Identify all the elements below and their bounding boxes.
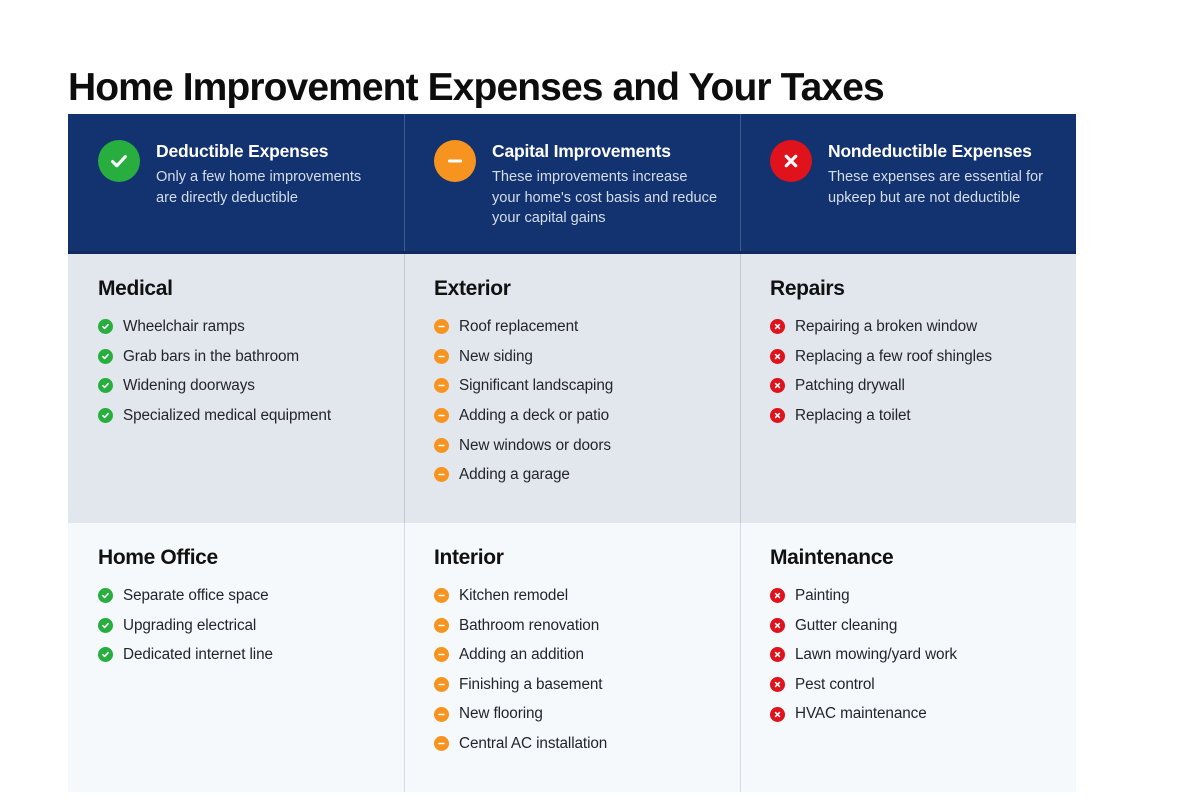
list-item: Adding an addition: [434, 645, 722, 664]
header-column-deductible: Deductible Expenses Only a few home impr…: [68, 114, 404, 251]
minus-circle-icon: [434, 408, 449, 423]
list-item-label: Widening doorways: [123, 376, 255, 395]
minus-circle-icon: [434, 349, 449, 364]
list-item-label: New flooring: [459, 704, 543, 723]
x-circle-icon: [770, 618, 785, 633]
x-circle-icon: [770, 349, 785, 364]
x-circle-icon: [770, 707, 785, 722]
x-circle-icon: [770, 408, 785, 423]
list-item: Kitchen remodel: [434, 586, 722, 605]
list-item: Painting: [770, 586, 1058, 605]
x-circle-icon: [770, 588, 785, 603]
list-item: Gutter cleaning: [770, 616, 1058, 635]
category-title: Home Office: [98, 545, 386, 570]
header-column-capital: Capital Improvements These improvements …: [404, 114, 740, 251]
check-circle-icon: [98, 140, 140, 182]
item-list: Kitchen remodelBathroom renovationAdding…: [434, 586, 722, 753]
header-title: Deductible Expenses: [156, 141, 382, 162]
list-item: Central AC installation: [434, 734, 722, 753]
list-item: Dedicated internet line: [98, 645, 386, 664]
item-list: Repairing a broken windowReplacing a few…: [770, 317, 1058, 425]
list-item-label: Roof replacement: [459, 317, 578, 336]
list-item: New flooring: [434, 704, 722, 723]
header-subtitle: These improvements increase your home's …: [492, 167, 718, 229]
infographic-page: Home Improvement Expenses and Your Taxes…: [0, 0, 1200, 800]
list-item-label: Adding a garage: [459, 465, 570, 484]
header-title: Nondeductible Expenses: [828, 141, 1054, 162]
list-item-label: Adding an addition: [459, 645, 584, 664]
list-item: Roof replacement: [434, 317, 722, 336]
minus-circle-icon: [434, 378, 449, 393]
list-item: Significant landscaping: [434, 376, 722, 395]
cell-home-office: Home Office Separate office spaceUpgradi…: [68, 523, 404, 792]
list-item-label: Upgrading electrical: [123, 616, 256, 635]
header-column-nondeductible: Nondeductible Expenses These expenses ar…: [740, 114, 1076, 251]
header-column-text: Deductible Expenses Only a few home impr…: [156, 139, 382, 208]
list-item-label: Wheelchair ramps: [123, 317, 245, 336]
list-item-label: Pest control: [795, 675, 875, 694]
category-title: Exterior: [434, 276, 722, 301]
minus-circle-icon: [434, 319, 449, 334]
item-list: PaintingGutter cleaningLawn mowing/yard …: [770, 586, 1058, 724]
x-circle-icon: [770, 378, 785, 393]
cell-repairs: Repairs Repairing a broken windowReplaci…: [740, 254, 1076, 523]
minus-circle-icon: [434, 707, 449, 722]
list-item: Pest control: [770, 675, 1058, 694]
list-item: Patching drywall: [770, 376, 1058, 395]
list-item-label: Replacing a toilet: [795, 406, 911, 425]
list-item: Adding a deck or patio: [434, 406, 722, 425]
x-circle-icon: [770, 647, 785, 662]
minus-circle-icon: [434, 467, 449, 482]
header-subtitle: Only a few home improvements are directl…: [156, 167, 382, 208]
list-item-label: Finishing a basement: [459, 675, 602, 694]
list-item-label: New windows or doors: [459, 436, 611, 455]
list-item: New siding: [434, 347, 722, 366]
category-title: Interior: [434, 545, 722, 570]
list-item-label: New siding: [459, 347, 533, 366]
matrix-body-row: Medical Wheelchair rampsGrab bars in the…: [68, 254, 1076, 523]
list-item: HVAC maintenance: [770, 704, 1058, 723]
header-title: Capital Improvements: [492, 141, 718, 162]
list-item-label: Painting: [795, 586, 849, 605]
minus-circle-icon: [434, 140, 476, 182]
item-list: Roof replacementNew sidingSignificant la…: [434, 317, 722, 484]
header-column-text: Nondeductible Expenses These expenses ar…: [828, 139, 1054, 208]
list-item-label: Specialized medical equipment: [123, 406, 331, 425]
list-item: Replacing a toilet: [770, 406, 1058, 425]
item-list: Wheelchair rampsGrab bars in the bathroo…: [98, 317, 386, 425]
category-title: Repairs: [770, 276, 1058, 301]
minus-circle-icon: [434, 647, 449, 662]
category-title: Medical: [98, 276, 386, 301]
x-circle-icon: [770, 140, 812, 182]
check-circle-icon: [98, 588, 113, 603]
check-circle-icon: [98, 408, 113, 423]
list-item-label: Repairing a broken window: [795, 317, 977, 336]
list-item-label: Gutter cleaning: [795, 616, 897, 635]
category-title: Maintenance: [770, 545, 1058, 570]
list-item: Specialized medical equipment: [98, 406, 386, 425]
minus-circle-icon: [434, 588, 449, 603]
minus-circle-icon: [434, 618, 449, 633]
list-item-label: HVAC maintenance: [795, 704, 927, 723]
list-item: Grab bars in the bathroom: [98, 347, 386, 366]
list-item-label: Lawn mowing/yard work: [795, 645, 957, 664]
list-item-label: Adding a deck or patio: [459, 406, 609, 425]
list-item-label: Grab bars in the bathroom: [123, 347, 299, 366]
list-item: Separate office space: [98, 586, 386, 605]
list-item-label: Patching drywall: [795, 376, 905, 395]
check-circle-icon: [98, 618, 113, 633]
list-item-label: Separate office space: [123, 586, 269, 605]
list-item-label: Significant landscaping: [459, 376, 613, 395]
list-item-label: Dedicated internet line: [123, 645, 273, 664]
list-item: Replacing a few roof shingles: [770, 347, 1058, 366]
list-item: Finishing a basement: [434, 675, 722, 694]
list-item: Bathroom renovation: [434, 616, 722, 635]
list-item: Repairing a broken window: [770, 317, 1058, 336]
cell-maintenance: Maintenance PaintingGutter cleaningLawn …: [740, 523, 1076, 792]
check-circle-icon: [98, 349, 113, 364]
list-item: New windows or doors: [434, 436, 722, 455]
matrix-header-row: Deductible Expenses Only a few home impr…: [68, 114, 1076, 254]
cell-exterior: Exterior Roof replacementNew sidingSigni…: [404, 254, 740, 523]
list-item-label: Central AC installation: [459, 734, 607, 753]
list-item: Widening doorways: [98, 376, 386, 395]
check-circle-icon: [98, 319, 113, 334]
list-item: Lawn mowing/yard work: [770, 645, 1058, 664]
page-title: Home Improvement Expenses and Your Taxes: [68, 67, 884, 109]
check-circle-icon: [98, 378, 113, 393]
cell-medical: Medical Wheelchair rampsGrab bars in the…: [68, 254, 404, 523]
cell-interior: Interior Kitchen remodelBathroom renovat…: [404, 523, 740, 792]
x-circle-icon: [770, 677, 785, 692]
list-item: Adding a garage: [434, 465, 722, 484]
header-subtitle: These expenses are essential for upkeep …: [828, 167, 1054, 208]
x-circle-icon: [770, 319, 785, 334]
list-item-label: Kitchen remodel: [459, 586, 568, 605]
list-item: Wheelchair ramps: [98, 317, 386, 336]
check-circle-icon: [98, 647, 113, 662]
item-list: Separate office spaceUpgrading electrica…: [98, 586, 386, 664]
list-item-label: Bathroom renovation: [459, 616, 599, 635]
minus-circle-icon: [434, 438, 449, 453]
header-column-text: Capital Improvements These improvements …: [492, 139, 718, 229]
expense-matrix: Deductible Expenses Only a few home impr…: [68, 114, 1076, 792]
list-item-label: Replacing a few roof shingles: [795, 347, 992, 366]
list-item: Upgrading electrical: [98, 616, 386, 635]
matrix-body-row: Home Office Separate office spaceUpgradi…: [68, 523, 1076, 792]
minus-circle-icon: [434, 677, 449, 692]
minus-circle-icon: [434, 736, 449, 751]
